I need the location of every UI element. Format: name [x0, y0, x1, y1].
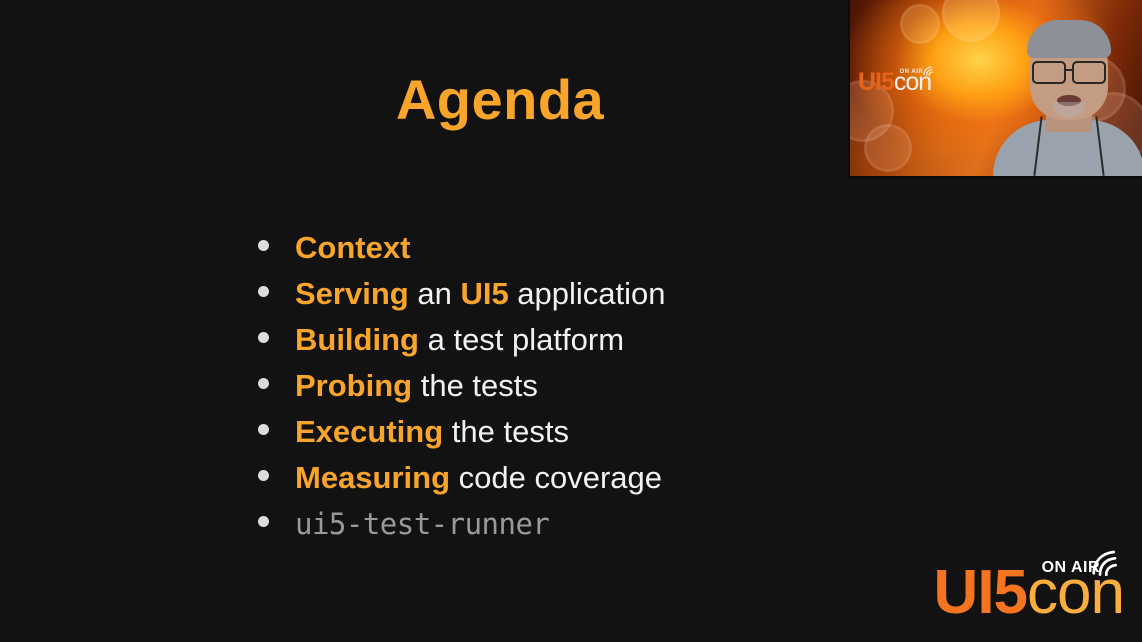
speaker-hair [1027, 20, 1111, 58]
bullet-icon [258, 516, 269, 527]
broadcast-waves-icon [1090, 548, 1120, 580]
logo-ui5-text: UI5 [858, 68, 894, 96]
bullet-icon [258, 424, 269, 435]
list-item-label: Context [295, 228, 410, 268]
bullet-icon [258, 332, 269, 343]
bullet-icon [258, 378, 269, 389]
agenda-list: Context Serving an UI5 application Build… [258, 228, 666, 550]
list-item-label: Executing the tests [295, 412, 569, 452]
list-item: Probing the tests [258, 366, 666, 412]
webcam-ui5con-watermark: UI5con ON AIR [858, 70, 931, 95]
bullet-icon [258, 470, 269, 481]
ui5con-brand-logo: UI5con ON AIR [934, 562, 1124, 624]
list-item-rest: the tests [443, 414, 569, 449]
bullet-icon [258, 286, 269, 297]
broadcast-waves-icon [922, 64, 934, 80]
speaker-avatar [993, 26, 1142, 176]
glasses-icon [1032, 61, 1106, 80]
presentation-slide: Agenda Context Serving an UI5 applicatio… [0, 0, 1142, 642]
list-item: Context [258, 228, 666, 274]
logo-ui5-text: UI5 [934, 558, 1027, 627]
list-item-keyword-secondary: UI5 [460, 276, 508, 311]
list-item-rest: an [409, 276, 461, 311]
glasses-lens-right [1072, 61, 1106, 84]
list-item-keyword: Measuring [295, 460, 450, 495]
list-item-keyword: Building [295, 322, 419, 357]
list-item: Measuring code coverage [258, 458, 666, 504]
list-item-keyword: Probing [295, 368, 412, 403]
list-item-keyword: Executing [295, 414, 443, 449]
bullet-icon [258, 240, 269, 251]
list-item-label: Serving an UI5 application [295, 274, 666, 314]
list-item: Executing the tests [258, 412, 666, 458]
list-item-label: Building a test platform [295, 320, 624, 360]
list-item-label: ui5-test-runner [295, 504, 549, 544]
glasses-lens-left [1032, 61, 1066, 84]
list-item-rest: code coverage [450, 460, 662, 495]
logo-on-air-text: ON AIR [899, 69, 923, 75]
list-item-rest: the tests [412, 368, 538, 403]
list-item-keyword: Context [295, 230, 410, 265]
list-item-label: Probing the tests [295, 366, 538, 406]
list-item: Building a test platform [258, 320, 666, 366]
list-item: ui5-test-runner [258, 504, 666, 550]
bokeh-circle [864, 124, 912, 172]
list-item-label: Measuring code coverage [295, 458, 662, 498]
list-item-rest-secondary: application [509, 276, 666, 311]
list-item-keyword: Serving [295, 276, 409, 311]
list-item-rest: a test platform [419, 322, 624, 357]
webcam-video-overlay[interactable]: UI5con ON AIR [848, 0, 1142, 179]
bokeh-circle [900, 4, 940, 44]
list-item: Serving an UI5 application [258, 274, 666, 320]
